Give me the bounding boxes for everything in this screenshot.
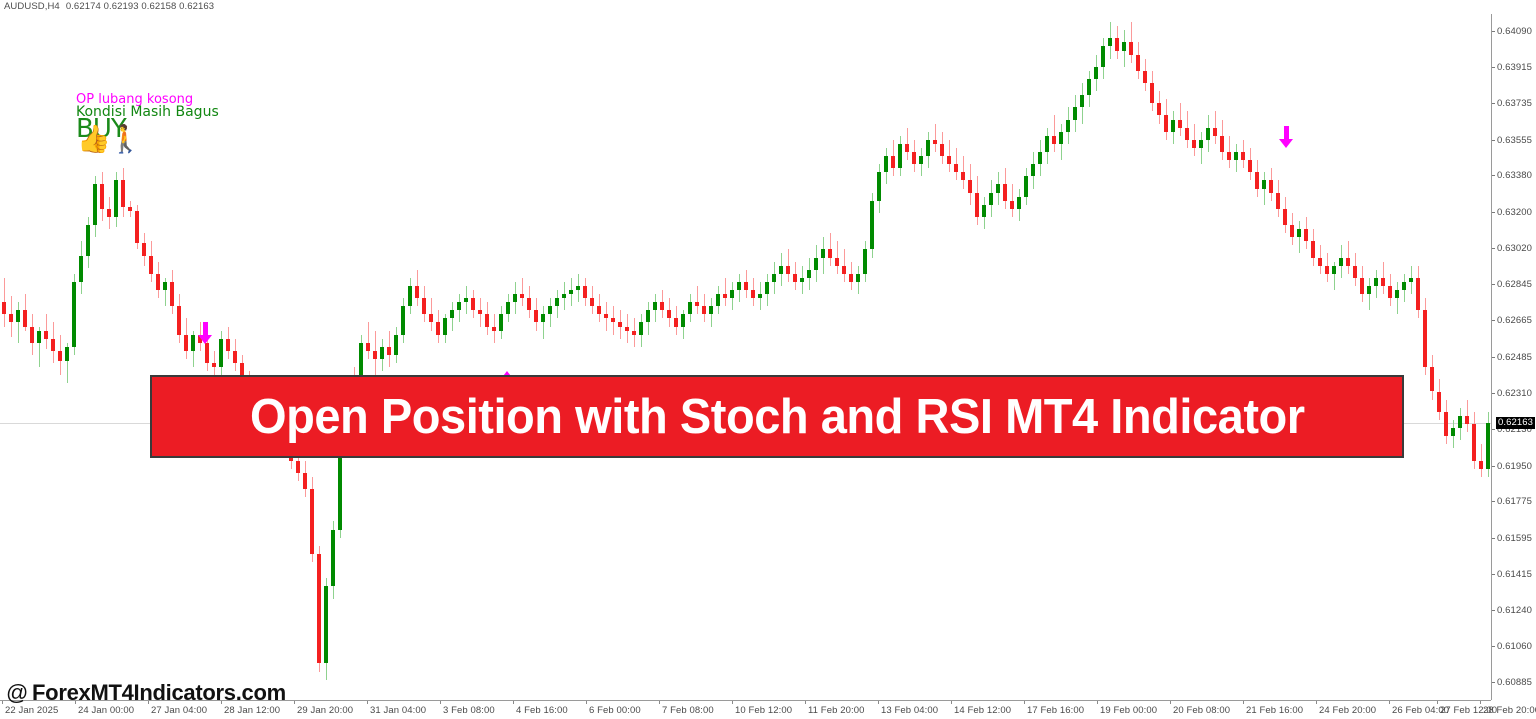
candle-body (569, 290, 573, 294)
candle-body (737, 282, 741, 290)
candle-body (310, 489, 314, 554)
candle-body (891, 156, 895, 168)
candle-body (128, 207, 132, 211)
candle-body (1199, 140, 1203, 148)
candle-wick (1299, 221, 1300, 253)
candle-body (1311, 241, 1315, 257)
candle-body (597, 306, 601, 314)
candle-body (303, 473, 307, 489)
candle-body (751, 290, 755, 298)
candle-body (72, 282, 76, 347)
candle-body (1437, 392, 1441, 412)
candle-body (877, 172, 881, 200)
candle-body (492, 327, 496, 331)
candle-body (863, 249, 867, 273)
candle-body (1164, 115, 1168, 131)
candle-body (709, 306, 713, 314)
ohlc-values: 0.62174 0.62193 0.62158 0.62163 (66, 1, 214, 12)
candle-body (1339, 258, 1343, 266)
candle-body (408, 286, 412, 306)
annotation-icons: 👍🚶 (77, 126, 142, 153)
candle-body (1486, 423, 1490, 468)
site-watermark: @ForexMT4Indicators.com (6, 680, 286, 706)
candle-body (1409, 278, 1413, 282)
candle-body (849, 274, 853, 282)
candle-body (989, 193, 993, 205)
candle-body (646, 310, 650, 322)
candle-body (688, 302, 692, 314)
candle-wick (935, 124, 936, 152)
candle-body (1262, 180, 1266, 188)
candle-body (1255, 172, 1259, 188)
candle-body (793, 274, 797, 282)
candle-body (1353, 266, 1357, 278)
thumbs-up-icon: 👍 (77, 124, 111, 155)
candle-body (632, 331, 636, 335)
candle-body (478, 310, 482, 314)
candle-body (555, 298, 559, 306)
candle-body (429, 314, 433, 322)
candle-body (1241, 152, 1245, 160)
candle-body (520, 294, 524, 298)
candle-body (590, 298, 594, 306)
candle-body (1318, 258, 1322, 266)
candle-wick (697, 286, 698, 314)
candle-body (898, 144, 902, 168)
candle-body (856, 274, 860, 282)
candle-body (828, 249, 832, 257)
candle-body (450, 310, 454, 318)
candle-body (674, 318, 678, 326)
symbol-label: AUDUSD,H4 (4, 1, 60, 12)
candle-body (625, 327, 629, 331)
candle-body (660, 302, 664, 310)
candle-body (219, 339, 223, 367)
candle-body (905, 144, 909, 152)
chart-plot-area[interactable]: OP lubang kosong Kondisi Masih Bagus BUY… (0, 14, 1491, 700)
candle-wick (1201, 132, 1202, 164)
candle-body (422, 298, 426, 314)
candle-body (576, 286, 580, 290)
candle-body (149, 256, 153, 274)
candle-body (114, 180, 118, 217)
candle-body (730, 290, 734, 298)
candle-body (457, 302, 461, 310)
candle-body (1115, 38, 1119, 50)
candle-body (1220, 136, 1224, 152)
candle-body (394, 335, 398, 355)
candle-body (387, 347, 391, 355)
candle-body (1374, 278, 1378, 286)
candle-body (233, 351, 237, 363)
candle-body (205, 343, 209, 363)
candle-body (786, 266, 790, 274)
candle-body (954, 164, 958, 172)
candle-body (1472, 424, 1476, 461)
candle-body (1087, 79, 1091, 95)
candle-body (65, 347, 69, 361)
candle-body (1360, 278, 1364, 294)
candle-body (513, 294, 517, 302)
candle-body (1276, 193, 1280, 209)
candle-body (884, 156, 888, 172)
candle-body (1192, 140, 1196, 148)
candle-body (758, 294, 762, 298)
banner-title: Open Position with Stoch and RSI MT4 Ind… (250, 389, 1305, 445)
candle-body (1269, 180, 1273, 192)
candle-body (933, 140, 937, 144)
candle-body (156, 274, 160, 290)
candle-body (1206, 128, 1210, 140)
candle-body (1332, 266, 1336, 274)
candle-body (1024, 176, 1028, 196)
candle-body (177, 306, 181, 334)
candle-body (1395, 290, 1399, 298)
candle-body (1465, 416, 1469, 424)
buy-signal-annotation: OP lubang kosong Kondisi Masih Bagus BUY… (76, 93, 219, 141)
candle-body (814, 258, 818, 270)
candle-body (1423, 310, 1427, 367)
candle-body (1213, 128, 1217, 136)
candle-body (548, 306, 552, 314)
candle-body (366, 343, 370, 351)
candle-body (1444, 412, 1448, 436)
candle-body (1171, 120, 1175, 132)
price-axis[interactable]: 0.640900.639150.637350.635550.633800.632… (1491, 14, 1536, 700)
candle-body (1381, 278, 1385, 286)
candle-body (583, 286, 587, 298)
person-icon: 🚶 (109, 124, 143, 155)
candle-body (926, 140, 930, 156)
candle-body (471, 298, 475, 310)
candle-body (961, 172, 965, 180)
candle-body (1416, 278, 1420, 310)
candle-body (695, 302, 699, 306)
candle-body (968, 180, 972, 192)
candle-body (611, 318, 615, 322)
candle-body (653, 302, 657, 310)
candle-body (1290, 225, 1294, 237)
candle-body (380, 347, 384, 359)
candle-body (226, 339, 230, 351)
candle-body (1325, 266, 1329, 274)
candle-body (1367, 286, 1371, 294)
candle-body (401, 306, 405, 334)
candle-body (821, 249, 825, 257)
candle-body (2, 302, 6, 314)
candle-body (485, 314, 489, 326)
candle-body (1430, 367, 1434, 391)
candle-body (912, 152, 916, 164)
candle-body (16, 310, 20, 322)
candle-body (1304, 229, 1308, 241)
candle-body (436, 322, 440, 334)
candle-body (142, 243, 146, 255)
candle-body (1101, 46, 1105, 66)
candle-body (1178, 120, 1182, 128)
candle-body (1129, 42, 1133, 54)
candle-body (86, 225, 90, 255)
candle-body (702, 306, 706, 314)
candle-body (324, 586, 328, 663)
candle-body (947, 156, 951, 164)
candle-body (464, 298, 468, 302)
candle-body (37, 331, 41, 343)
mt4-chart-window: AUDUSD,H40.62174 0.62193 0.62158 0.62163… (0, 0, 1536, 719)
candle-body (527, 298, 531, 310)
candle-body (1066, 120, 1070, 132)
candle-wick (725, 278, 726, 306)
candle-body (765, 282, 769, 294)
candle-body (1052, 136, 1056, 144)
candle-body (1122, 42, 1126, 50)
candle-body (562, 294, 566, 298)
candle-body (982, 205, 986, 217)
candle-body (618, 322, 622, 326)
candle-body (1003, 184, 1007, 200)
arrow-stem (203, 322, 208, 336)
arrow-head (198, 335, 212, 344)
candle-body (1150, 83, 1154, 103)
candle-body (93, 184, 97, 225)
candle-body (121, 180, 125, 206)
candle-body (79, 256, 83, 282)
candle-body (1283, 209, 1287, 225)
candle-body (191, 335, 195, 351)
candle-body (667, 310, 671, 318)
candle-wick (543, 306, 544, 338)
candle-body (1136, 55, 1140, 71)
candle-body (1185, 128, 1189, 140)
candle-body (58, 351, 62, 361)
candle-body (723, 294, 727, 298)
candle-body (1080, 95, 1084, 107)
candle-wick (522, 278, 523, 306)
candle-body (541, 314, 545, 322)
candle-wick (1369, 278, 1370, 310)
candle-body (1017, 197, 1021, 209)
candle-body (44, 331, 48, 339)
candle-body (1045, 136, 1049, 152)
candle-body (919, 156, 923, 164)
candle-body (800, 278, 804, 282)
candle-body (1031, 164, 1035, 176)
candle-body (996, 184, 1000, 192)
candle-body (772, 274, 776, 282)
candle-body (135, 211, 139, 243)
candle-body (835, 258, 839, 266)
candle-body (1451, 428, 1455, 436)
candle-body (1073, 107, 1077, 119)
candle-body (163, 282, 167, 290)
candle-wick (1054, 115, 1055, 152)
candle-body (1094, 67, 1098, 79)
arrow-head (1279, 139, 1293, 148)
candle-body (1458, 416, 1462, 428)
candle-body (604, 314, 608, 318)
candle-body (1388, 286, 1392, 298)
candle-body (1479, 461, 1483, 469)
at-symbol: @ (6, 680, 28, 705)
candle-body (373, 351, 377, 359)
candle-body (744, 282, 748, 290)
candle-body (9, 314, 13, 322)
candle-body (1108, 38, 1112, 46)
symbol-quote-header: AUDUSD,H40.62174 0.62193 0.62158 0.62163 (4, 1, 214, 12)
candle-body (1248, 160, 1252, 172)
candle-body (184, 335, 188, 351)
candle-body (534, 310, 538, 322)
candle-body (716, 294, 720, 306)
site-name: ForexMT4Indicators.com (32, 680, 286, 705)
candle-body (296, 461, 300, 473)
candle-body (1402, 282, 1406, 290)
candle-wick (368, 322, 369, 359)
candle-body (1038, 152, 1042, 164)
candle-wick (1264, 172, 1265, 204)
candle-body (415, 286, 419, 298)
candle-body (331, 530, 335, 587)
candle-body (975, 193, 979, 217)
candle-body (506, 302, 510, 314)
candle-body (779, 266, 783, 274)
candle-body (1234, 152, 1238, 160)
candle-body (639, 322, 643, 334)
candle-wick (1397, 282, 1398, 314)
candle-body (499, 314, 503, 330)
title-banner: Open Position with Stoch and RSI MT4 Ind… (150, 375, 1404, 458)
candle-body (807, 270, 811, 278)
candle-body (30, 327, 34, 343)
candle-body (100, 184, 104, 208)
candle-body (940, 144, 944, 156)
candle-body (317, 554, 321, 664)
candle-body (212, 363, 216, 367)
candle-body (443, 318, 447, 334)
candle-body (842, 266, 846, 274)
candle-body (1059, 132, 1063, 144)
candle-body (1297, 229, 1301, 237)
candle-body (1227, 152, 1231, 160)
candle-body (870, 201, 874, 250)
candle-body (23, 310, 27, 326)
candle-body (681, 314, 685, 326)
candle-body (51, 339, 55, 351)
candle-body (170, 282, 174, 306)
candle-body (1346, 258, 1350, 266)
candle-body (107, 209, 111, 217)
candle-body (1010, 201, 1014, 209)
candle-body (1143, 71, 1147, 83)
arrow-stem (1284, 126, 1289, 140)
candle-body (1157, 103, 1161, 115)
